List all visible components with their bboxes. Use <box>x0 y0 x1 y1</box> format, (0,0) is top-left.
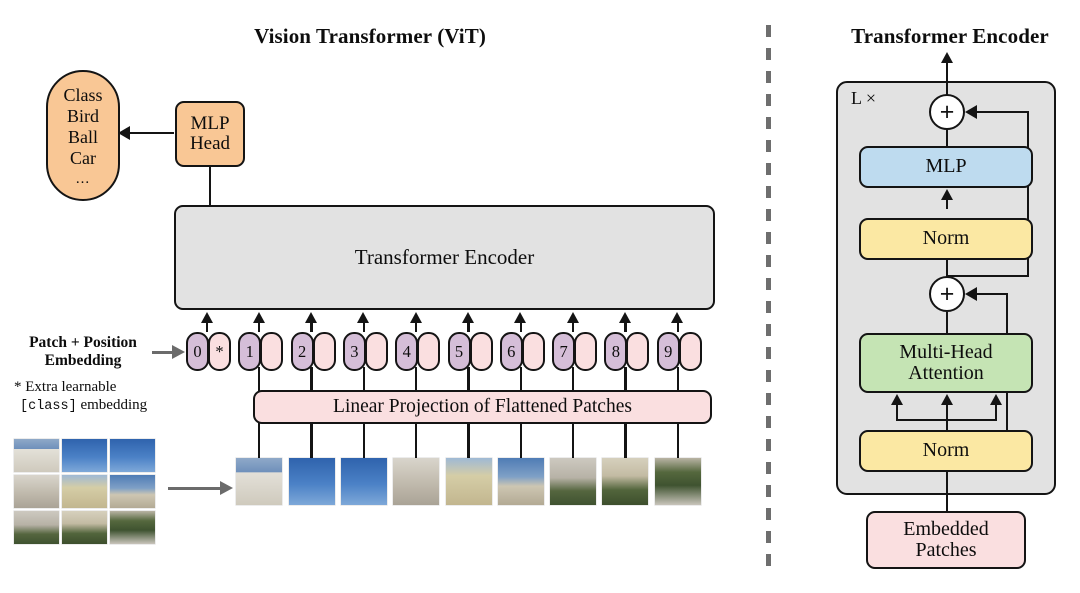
linear-projection-label: Linear Projection of Flattened Patches <box>333 397 632 418</box>
attention-line2: Attention <box>908 363 984 384</box>
embedding-token: 0* <box>186 332 231 371</box>
position-embedding-cap: 4 <box>395 332 418 371</box>
extra-learnable-note: * Extra learnable [class] embedding <box>14 378 174 415</box>
class-item-car: Car <box>70 148 96 169</box>
residual-add-bottom-symbol: + <box>940 282 955 307</box>
extra-learnable-suffix: embedding <box>77 397 147 413</box>
attention-line1: Multi-Head <box>899 342 992 363</box>
flattened-image-patch <box>393 458 439 505</box>
patch-embedding-cap: * <box>208 332 231 371</box>
qkv-center-arrowhead <box>941 394 953 405</box>
embedding-label-arrowhead <box>172 345 185 359</box>
token-to-encoder-arrowhead <box>305 312 317 323</box>
residual-top-horizontal-top <box>975 111 1029 113</box>
flattened-image-patch <box>602 458 648 505</box>
embedding-label-arrow-line <box>152 351 174 354</box>
source-image-patch <box>110 439 155 472</box>
embedded-patches-line1: Embedded <box>903 519 989 540</box>
embedding-token: 1 <box>238 332 283 371</box>
mlp-block: MLP <box>859 146 1033 188</box>
patch-position-line1: Patch + Position <box>8 334 158 352</box>
class-item-ellipsis: ... <box>76 171 90 189</box>
flattened-image-patch <box>550 458 596 505</box>
class-output-pill: Class Bird Ball Car ... <box>46 70 120 201</box>
flattened-image-patch <box>498 458 544 505</box>
source-to-patches-arrowhead <box>220 481 233 495</box>
patch-embedding-cap <box>574 332 597 371</box>
position-embedding-cap: 7 <box>552 332 575 371</box>
position-embedding-cap: 3 <box>343 332 366 371</box>
token-to-encoder-line <box>467 323 469 332</box>
class-item-bird: Bird <box>67 106 99 127</box>
norm-top-block: Norm <box>859 218 1033 260</box>
embedding-token: 3 <box>343 332 388 371</box>
class-pill-header: Class <box>63 85 102 106</box>
residual-add-top: + <box>929 94 965 130</box>
flattened-image-patch <box>655 458 701 505</box>
patch-embedding-cap <box>417 332 440 371</box>
patch-embedding-cap <box>522 332 545 371</box>
class-token-mono: [class] <box>20 399 77 414</box>
embedding-token: 9 <box>657 332 702 371</box>
left-panel-title: Vision Transformer (ViT) <box>190 24 550 49</box>
qkv-right-arrowhead <box>990 394 1002 405</box>
projection-to-token-line <box>467 367 469 391</box>
embedded-patches-line2: Patches <box>915 540 976 561</box>
patch-to-projection-line <box>520 423 522 458</box>
projection-to-token-line <box>363 367 365 391</box>
mlp-to-add-line <box>946 130 948 147</box>
source-to-patches-line <box>168 487 222 490</box>
mlp-head-line2: Head <box>190 134 230 154</box>
residual-add-top-symbol: + <box>940 100 955 125</box>
flattened-image-patch <box>446 458 492 505</box>
qkv-left-stem <box>896 404 898 420</box>
patch-to-projection-line <box>258 423 260 458</box>
source-image-patch <box>110 475 155 508</box>
flattened-image-patch <box>341 458 387 505</box>
patch-embedding-cap <box>679 332 702 371</box>
source-image-patch <box>110 511 155 544</box>
panel-divider <box>766 25 771 570</box>
token-to-encoder-line <box>520 323 522 332</box>
vit-architecture-diagram: Vision Transformer (ViT) Class Bird Ball… <box>0 0 1080 593</box>
token-to-encoder-arrowhead <box>410 312 422 323</box>
mlp-head-line1: MLP <box>190 114 229 134</box>
token-to-encoder-arrowhead <box>462 312 474 323</box>
token-to-encoder-arrowhead <box>201 312 213 323</box>
mlp-block-label: MLP <box>925 156 966 177</box>
multi-head-attention-block: Multi-Head Attention <box>859 333 1033 393</box>
norm-top-to-add-line <box>946 260 948 277</box>
mlp-head-to-encoder-line <box>209 167 211 207</box>
linear-projection-box: Linear Projection of Flattened Patches <box>253 390 712 424</box>
norm-top-to-mlp-arrowhead <box>941 189 953 200</box>
token-to-encoder-arrowhead <box>619 312 631 323</box>
position-embedding-cap: 1 <box>238 332 261 371</box>
embedding-token: 2 <box>291 332 336 371</box>
token-to-encoder-line <box>206 323 208 332</box>
token-to-encoder-arrowhead <box>671 312 683 323</box>
source-image-patch <box>62 511 107 544</box>
token-to-encoder-arrowhead <box>357 312 369 323</box>
attention-to-add-line <box>946 312 948 334</box>
projection-to-token-line <box>677 367 679 391</box>
source-image-patch <box>14 439 59 472</box>
token-to-encoder-line <box>415 323 417 332</box>
patch-embedding-cap <box>365 332 388 371</box>
patch-position-line2: Embedding <box>8 352 158 370</box>
mlp-head-to-class-arrowhead <box>118 126 130 140</box>
projection-to-token-line <box>258 367 260 391</box>
extra-learnable-prefix: * Extra learnable <box>14 378 174 396</box>
source-image-patch <box>14 475 59 508</box>
mlp-head-box: MLP Head <box>175 101 245 167</box>
patch-to-projection-line <box>572 423 574 458</box>
projection-to-token-line <box>415 367 417 391</box>
flattened-image-patch <box>289 458 335 505</box>
patch-position-embedding-label: Patch + Position Embedding <box>8 334 158 369</box>
source-image-patch-grid <box>14 439 156 545</box>
position-embedding-cap: 0 <box>186 332 209 371</box>
token-to-encoder-arrowhead <box>253 312 265 323</box>
mlp-head-to-class-line <box>128 132 174 134</box>
embedding-token: 5 <box>448 332 493 371</box>
patch-to-projection-line <box>677 423 679 458</box>
class-item-ball: Ball <box>68 127 98 148</box>
projection-to-token-line <box>572 367 574 391</box>
embedding-token: 8 <box>604 332 649 371</box>
token-to-encoder-line <box>677 323 679 332</box>
add-top-to-output-line <box>946 82 948 96</box>
patch-to-projection-line <box>415 423 417 458</box>
embedding-token: 7 <box>552 332 597 371</box>
patch-embedding-cap <box>626 332 649 371</box>
token-to-encoder-line <box>624 323 626 332</box>
source-image-patch <box>62 475 107 508</box>
norm-top-to-mlp-line <box>946 199 948 209</box>
projection-to-token-line <box>310 367 312 391</box>
patch-to-projection-line <box>310 423 312 458</box>
layer-repeat-label: L × <box>851 88 876 109</box>
transformer-encoder-label: Transformer Encoder <box>355 246 534 268</box>
source-image-patch <box>62 439 107 472</box>
norm-bottom-block: Norm <box>859 430 1033 472</box>
patch-embedding-cap <box>313 332 336 371</box>
residual-add-bottom: + <box>929 276 965 312</box>
norm-top-label: Norm <box>923 228 970 249</box>
source-image-patch <box>14 511 59 544</box>
patch-embedding-cap <box>470 332 493 371</box>
token-to-encoder-line <box>310 323 312 332</box>
position-embedding-cap: 5 <box>448 332 471 371</box>
position-embedding-cap: 6 <box>500 332 523 371</box>
encoder-output-arrowhead <box>941 52 953 63</box>
residual-top-arrowhead <box>965 105 977 119</box>
embedded-patches-block: Embedded Patches <box>866 511 1026 569</box>
token-to-encoder-line <box>258 323 260 332</box>
embedding-token: 4 <box>395 332 440 371</box>
right-panel-title: Transformer Encoder <box>820 24 1080 49</box>
qkv-left-arrowhead <box>891 394 903 405</box>
token-to-encoder-arrowhead <box>514 312 526 323</box>
residual-bottom-arrowhead <box>965 287 977 301</box>
patch-to-projection-line <box>363 423 365 458</box>
projection-to-token-line <box>624 367 626 391</box>
qkv-right-stem <box>995 404 997 420</box>
residual-bottom-horizontal-top <box>975 293 1008 295</box>
token-to-encoder-line <box>572 323 574 332</box>
patch-embedding-cap <box>260 332 283 371</box>
patch-to-projection-line <box>624 423 626 458</box>
projection-to-token-line <box>520 367 522 391</box>
embedding-token: 6 <box>500 332 545 371</box>
token-to-encoder-line <box>363 323 365 332</box>
position-embedding-cap: 2 <box>291 332 314 371</box>
norm-bottom-to-qkv-line <box>946 418 948 432</box>
embedded-patches-to-norm-line <box>946 471 948 512</box>
patch-to-projection-line <box>467 423 469 458</box>
flattened-image-patch <box>236 458 282 505</box>
token-to-encoder-arrowhead <box>567 312 579 323</box>
residual-top-horizontal-bottom <box>947 275 1029 277</box>
position-embedding-cap: 9 <box>657 332 680 371</box>
position-embedding-cap: 8 <box>604 332 627 371</box>
transformer-encoder-box: Transformer Encoder <box>174 205 715 310</box>
norm-bottom-label: Norm <box>923 440 970 461</box>
